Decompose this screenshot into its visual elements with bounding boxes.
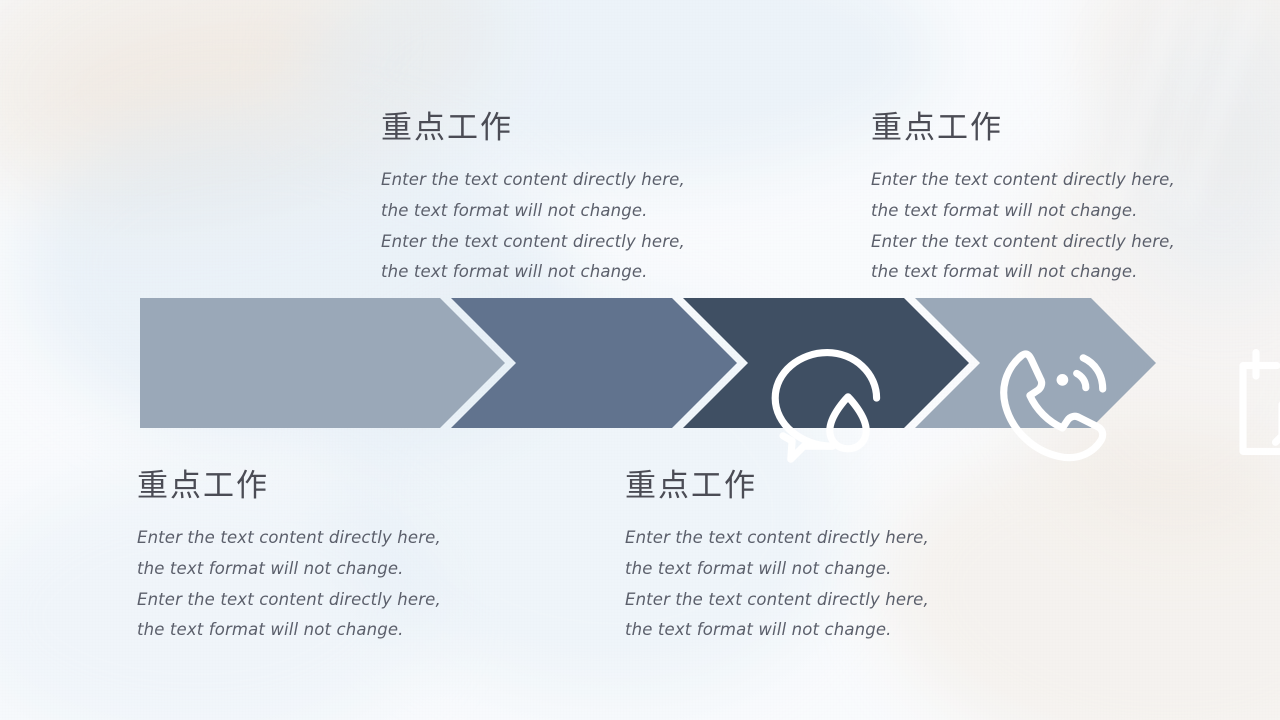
block-3-heading: 重点工作 xyxy=(137,470,441,501)
block-3-line-1: Enter the text content directly here, xyxy=(137,523,441,554)
chevron-segment-1-shape xyxy=(140,298,505,428)
text-block-2: 重点工作 Enter the text content directly her… xyxy=(871,112,1175,288)
block-2-line-1: Enter the text content directly here, xyxy=(871,165,1175,196)
text-block-1: 重点工作 Enter the text content directly her… xyxy=(381,112,685,288)
block-1-line-4: the text format will not change. xyxy=(381,257,685,288)
block-2-line-3: Enter the text content directly here, xyxy=(871,227,1175,258)
block-4-line-3: Enter the text content directly here, xyxy=(625,585,929,616)
watercolor-wash-cream-top-left-2 xyxy=(22,0,368,158)
block-2-line-4: the text format will not change. xyxy=(871,257,1175,288)
text-block-4: 重点工作 Enter the text content directly her… xyxy=(625,470,929,646)
block-1-line-3: Enter the text content directly here, xyxy=(381,227,685,258)
block-4-body: Enter the text content directly here, th… xyxy=(625,523,929,646)
block-3-line-2: the text format will not change. xyxy=(137,554,441,585)
block-2-body: Enter the text content directly here, th… xyxy=(871,165,1175,288)
block-4-line-1: Enter the text content directly here, xyxy=(625,523,929,554)
block-3-line-3: Enter the text content directly here, xyxy=(137,585,441,616)
block-2-heading: 重点工作 xyxy=(871,112,1175,143)
brush-streak-3 xyxy=(1180,0,1260,216)
block-1-line-1: Enter the text content directly here, xyxy=(381,165,685,196)
text-block-3: 重点工作 Enter the text content directly her… xyxy=(137,470,441,646)
block-1-line-2: the text format will not change. xyxy=(381,196,685,227)
block-4-line-2: the text format will not change. xyxy=(625,554,929,585)
block-2-line-2: the text format will not change. xyxy=(871,196,1175,227)
slide-canvas: 重点工作 Enter the text content directly her… xyxy=(0,0,1280,720)
block-4-line-4: the text format will not change. xyxy=(625,615,929,646)
process-chevron-banner xyxy=(140,298,1156,428)
block-1-body: Enter the text content directly here, th… xyxy=(381,165,685,288)
block-3-line-4: the text format will not change. xyxy=(137,615,441,646)
block-1-heading: 重点工作 xyxy=(381,112,685,143)
block-4-heading: 重点工作 xyxy=(625,470,929,501)
block-3-body: Enter the text content directly here, th… xyxy=(137,523,441,646)
